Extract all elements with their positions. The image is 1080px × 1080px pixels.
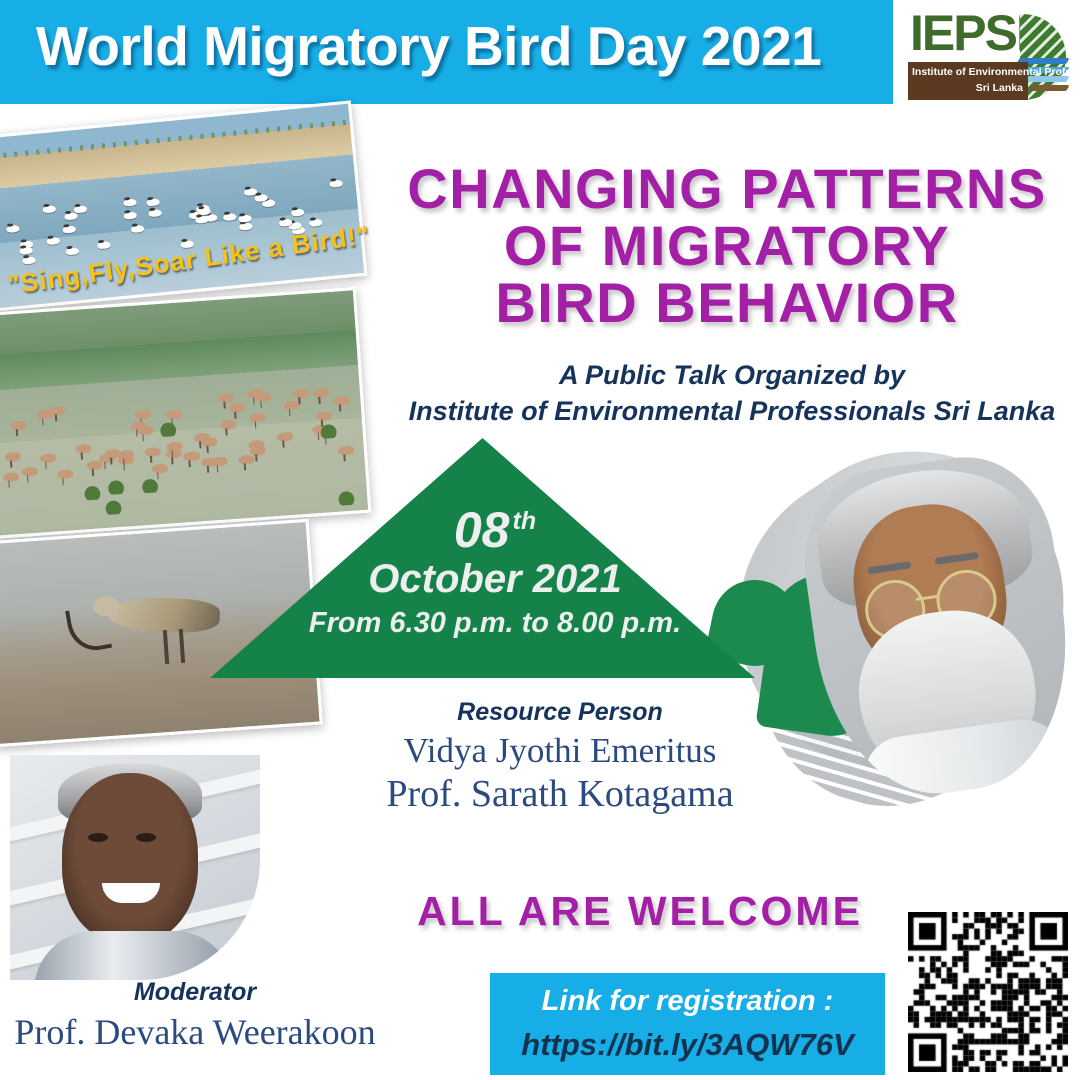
curlew-bill (65, 604, 112, 654)
wader-silhouette (277, 432, 294, 442)
subtitle: A Public Talk Organized by Institute of … (382, 358, 1080, 429)
resource-person-name: Prof. Sarath Kotagama (330, 772, 790, 816)
gull-silhouette (329, 180, 343, 188)
logo-subtitle-line1: Institute of Environmental Professionals (912, 66, 1080, 78)
wader-silhouette (218, 393, 235, 403)
wader-silhouette (56, 470, 73, 480)
wader-silhouette (293, 388, 310, 398)
gull-silhouette (73, 206, 87, 214)
photo-wetland (0, 287, 371, 539)
logo-subtitle-line2: Sri Lanka (976, 82, 1023, 94)
poster: World Migratory Bird Day 2021 IEPSL Inst… (0, 0, 1080, 1080)
gull-silhouette (223, 213, 237, 221)
wader-silhouette (21, 466, 38, 476)
event-date-block: 08th October 2021 From 6.30 p.m. to 8.00… (260, 505, 730, 643)
moderator-photo (10, 755, 260, 980)
wader-silhouette (250, 446, 267, 456)
gull-silhouette (6, 225, 20, 233)
wader-silhouette (229, 403, 246, 413)
gull-silhouette (238, 215, 252, 223)
all-are-welcome-text: ALL ARE WELCOME (370, 888, 910, 935)
gull-silhouette (123, 198, 137, 206)
event-time: From 6.30 p.m. to 8.00 p.m. (260, 604, 730, 643)
shrub (333, 484, 360, 506)
gull-silhouette (124, 211, 138, 219)
registration-label: Link for registration : (490, 985, 885, 1018)
gull-silhouette (98, 241, 112, 249)
gull-silhouette (146, 198, 160, 206)
wader-silhouette (145, 447, 162, 457)
page-title: World Migratory Bird Day 2021 (36, 14, 866, 78)
gull-silhouette (64, 212, 78, 220)
shrub (136, 472, 163, 494)
gull-silhouette (239, 222, 253, 230)
wader-silhouette (135, 409, 152, 419)
moderator-name: Prof. Devaka Weerakoon (0, 1011, 390, 1053)
gull-silhouette (42, 206, 56, 214)
gull-silhouette (195, 216, 209, 224)
event-day: 08th (260, 505, 730, 555)
wader-silhouette (249, 412, 266, 422)
resource-person-label: Resource Person (330, 698, 790, 727)
moderator-label: Moderator (0, 978, 390, 1007)
gull-silhouette (63, 225, 77, 233)
gull-silhouette (20, 247, 34, 255)
wader-silhouette (166, 441, 183, 451)
wader-silhouette (238, 454, 255, 464)
iepsl-logo: IEPSL Institute of Environmental Profess… (908, 6, 1074, 102)
wader-silhouette (39, 453, 56, 463)
resource-person-block: Resource Person Vidya Jyothi Emeritus Pr… (330, 698, 790, 816)
qr-code[interactable] (908, 912, 1068, 1072)
logo-band: Institute of Environmental Professionals… (908, 62, 1028, 100)
wader-silhouette (313, 388, 330, 398)
shrub (78, 479, 105, 501)
wader-silhouette (333, 396, 350, 406)
wader-silhouette (86, 460, 103, 470)
registration-url[interactable]: https://bit.ly/3AQW76V (490, 1027, 885, 1063)
wader-silhouette (283, 400, 300, 410)
subtitle-line-1: A Public Talk Organized by (382, 358, 1080, 394)
moderator-block: Moderator Prof. Devaka Weerakoon (0, 978, 390, 1053)
headline: CHANGING PATTERNS OF MIGRATORY BIRD BEHA… (382, 160, 1072, 331)
wader-silhouette (11, 421, 28, 431)
gull-silhouette (47, 237, 61, 245)
gull-silhouette (23, 256, 37, 264)
gull-silhouette (291, 208, 305, 216)
wader-silhouette (4, 452, 21, 462)
event-day-ordinal: th (513, 507, 537, 535)
event-day-number: 08 (454, 502, 510, 558)
wader-silhouette (338, 446, 355, 456)
resource-person-title: Vidya Jyothi Emeritus (330, 731, 790, 772)
subtitle-line-2: Institute of Environmental Professionals… (382, 394, 1080, 430)
gull-silhouette (131, 224, 145, 232)
curlew-body (107, 596, 220, 634)
headline-line-3: BIRD BEHAVIOR (382, 274, 1072, 331)
registration-box[interactable]: Link for registration : https://bit.ly/3… (490, 973, 885, 1075)
wader-silhouette (36, 410, 53, 420)
wader-silhouette (211, 457, 228, 467)
wader-silhouette (75, 444, 92, 454)
wader-silhouette (3, 473, 20, 483)
event-month-year: October 2021 (260, 555, 730, 604)
shrub (102, 473, 129, 495)
headline-line-1: CHANGING PATTERNS (382, 160, 1072, 217)
shrub (314, 418, 341, 440)
shrub (155, 416, 182, 438)
headline-line-2: OF MIGRATORY (382, 217, 1072, 274)
gull-silhouette (66, 247, 80, 255)
wader-silhouette (220, 419, 237, 429)
gull-silhouette (148, 209, 162, 217)
